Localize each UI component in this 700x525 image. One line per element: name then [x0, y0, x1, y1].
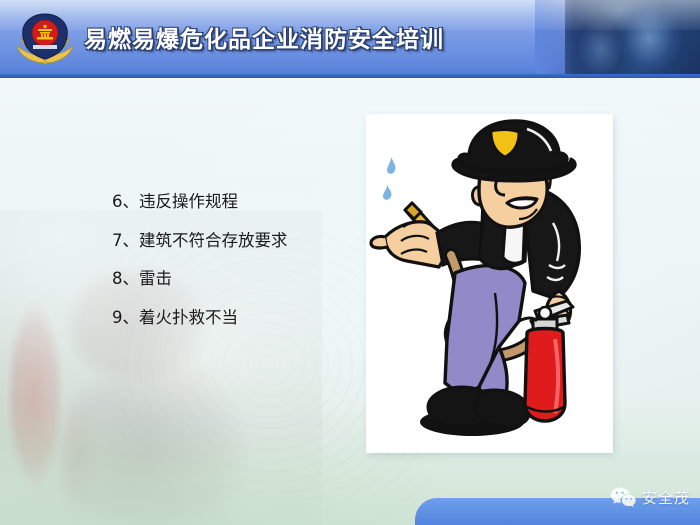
- police-badge-icon: [14, 11, 76, 67]
- slide-header: 易燃易爆危化品企业消防安全培训: [0, 0, 700, 78]
- bullet-list: 6、违反操作规程 7、建筑不符合存放要求 8、雷击 9、着火扑救不当: [112, 194, 392, 326]
- list-item: 6、违反操作规程: [112, 194, 392, 211]
- fire-extinguisher-icon: [519, 301, 573, 421]
- cartoon-firefighter-illustration: [367, 115, 612, 452]
- illustration-panel: [367, 115, 612, 452]
- list-item: 7、建筑不符合存放要求: [112, 233, 392, 250]
- watermark: 安全茂: [610, 486, 690, 508]
- list-item: 9、着火扑救不当: [112, 310, 392, 327]
- list-item: 8、雷击: [112, 271, 392, 288]
- slide: 易燃易爆危化品企业消防安全培训 6、违反操作规程 7、建筑不符合存放要求 8、雷…: [0, 0, 700, 525]
- wechat-icon: [610, 486, 636, 508]
- watermark-label: 安全茂: [642, 487, 690, 508]
- header-underline: [0, 74, 700, 78]
- page-title: 易燃易爆危化品企业消防安全培训: [84, 20, 444, 54]
